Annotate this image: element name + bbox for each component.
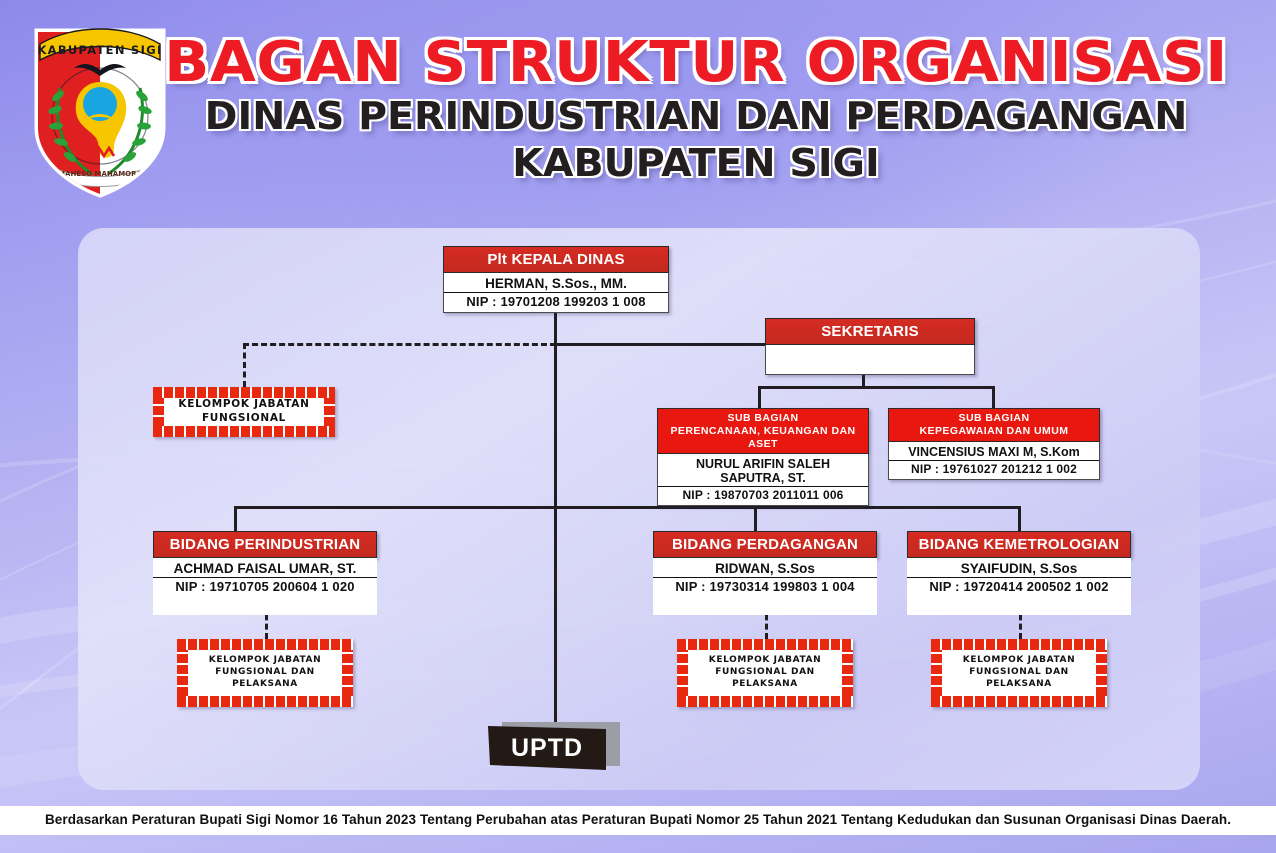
- bidang-3-name: SYAIFUDIN, S.Sos: [907, 558, 1131, 577]
- node-sub-bagian-perencanaan-body: NURUL ARIFIN SALEH SAPUTRA, ST. NIP : 19…: [657, 454, 869, 506]
- connector-bidang-1-drop: [234, 506, 237, 533]
- node-bidang-perindustrian-body: ACHMAD FAISAL UMAR, ST. NIP : 19710705 2…: [153, 558, 377, 615]
- connector-dashed-kjf-horizontal: [243, 343, 556, 346]
- kjf-label-line2: FUNGSIONAL: [202, 412, 286, 424]
- bidang-2-name: RIDWAN, S.Sos: [653, 558, 877, 577]
- uptd-box[interactable]: UPTD: [488, 726, 606, 770]
- title-block: BAGAN STRUKTUR ORGANISASI DINAS PERINDUS…: [180, 34, 1212, 184]
- bidang-2-nip: NIP : 19730314 199803 1 004: [653, 577, 877, 597]
- connector-subbagian-1-drop: [758, 386, 761, 408]
- node-kjf-pelaksana-perindustrian[interactable]: KELOMPOK JABATAN FUNGSIONAL DAN PELAKSAN…: [177, 639, 353, 707]
- node-sub-bagian-kepegawaian-body: VINCENSIUS MAXI M, S.Kom NIP : 19761027 …: [888, 442, 1100, 480]
- node-kjf-pelaksana-perdagangan-inner: KELOMPOK JABATAN FUNGSIONAL DAN PELAKSAN…: [688, 650, 842, 696]
- node-kepala-dinas-name: HERMAN, S.Sos., MM.: [444, 273, 668, 292]
- node-uptd[interactable]: UPTD: [488, 722, 620, 770]
- kjf-label-line1: KELOMPOK JABATAN: [178, 398, 309, 410]
- node-kepala-dinas-body: HERMAN, S.Sos., MM. NIP : 19701208 19920…: [443, 273, 669, 313]
- footer-bar: Berdasarkan Peraturan Bupati Sigi Nomor …: [0, 806, 1276, 835]
- node-bidang-perindustrian[interactable]: BIDANG PERINDUSTRIAN ACHMAD FAISAL UMAR,…: [153, 531, 377, 615]
- connector-kepala-spine: [554, 303, 557, 509]
- sub-bagian-1-title-line2: PERENCANAAN, KEUANGAN DAN ASET: [664, 425, 862, 451]
- sub-bagian-2-title-line2: KEPEGAWAIAN DAN UMUM: [895, 425, 1093, 438]
- sub-bagian-2-nip: NIP : 19761027 201212 1 002: [889, 460, 1099, 479]
- node-kjf-pelaksana-perindustrian-inner: KELOMPOK JABATAN FUNGSIONAL DAN PELAKSAN…: [188, 650, 342, 696]
- sub-bagian-2-title-line1: SUB BAGIAN: [895, 412, 1093, 425]
- bidang-1-child-line1: KELOMPOK JABATAN: [209, 655, 321, 665]
- node-kjf-pelaksana-kemetrologian-inner: KELOMPOK JABATAN FUNGSIONAL DAN PELAKSAN…: [942, 650, 1096, 696]
- node-sekretaris-body: [765, 345, 975, 375]
- page-title-main: BAGAN STRUKTUR ORGANISASI: [149, 34, 1243, 91]
- node-kelompok-jabatan-fungsional-inner: KELOMPOK JABATAN FUNGSIONAL: [164, 398, 324, 426]
- node-kjf-pelaksana-perdagangan[interactable]: KELOMPOK JABATAN FUNGSIONAL DAN PELAKSAN…: [677, 639, 853, 707]
- node-kepala-dinas[interactable]: Plt KEPALA DINAS HERMAN, S.Sos., MM. NIP…: [443, 246, 669, 313]
- sub-bagian-1-nip: NIP : 19870703 2011011 006: [658, 486, 868, 505]
- node-sub-bagian-kepegawaian[interactable]: SUB BAGIAN KEPEGAWAIAN DAN UMUM VINCENSI…: [888, 408, 1100, 480]
- connector-bidang-2-drop: [754, 506, 757, 533]
- node-sub-bagian-perencanaan[interactable]: SUB BAGIAN PERENCANAAN, KEUANGAN DAN ASE…: [657, 408, 869, 506]
- node-bidang-perdagangan-title: BIDANG PERDAGANGAN: [653, 531, 877, 558]
- node-sekretaris-title: SEKRETARIS: [765, 318, 975, 345]
- node-sub-bagian-kepegawaian-title: SUB BAGIAN KEPEGAWAIAN DAN UMUM: [888, 408, 1100, 442]
- node-kepala-dinas-title: Plt KEPALA DINAS: [443, 246, 669, 273]
- connector-subbagian-2-drop: [992, 386, 995, 408]
- connector-bidang-bus: [234, 506, 1020, 509]
- bidang-1-name: ACHMAD FAISAL UMAR, ST.: [153, 558, 377, 577]
- node-bidang-kemetrologian[interactable]: BIDANG KEMETROLOGIAN SYAIFUDIN, S.Sos NI…: [907, 531, 1131, 615]
- connector-bidang-3-drop: [1018, 506, 1021, 533]
- page-title-sub2: KABUPATEN SIGI: [159, 142, 1232, 185]
- node-bidang-perindustrian-title: BIDANG PERINDUSTRIAN: [153, 531, 377, 558]
- node-kelompok-jabatan-fungsional[interactable]: KELOMPOK JABATAN FUNGSIONAL: [153, 387, 335, 437]
- bidang-3-child-line2: FUNGSIONAL DAN PELAKSANA: [969, 667, 1069, 689]
- bidang-1-child-line2: FUNGSIONAL DAN PELAKSANA: [215, 667, 315, 689]
- logo-motto-text: MAHESO MAHAMORA: [58, 170, 142, 178]
- node-sub-bagian-perencanaan-title: SUB BAGIAN PERENCANAAN, KEUANGAN DAN ASE…: [657, 408, 869, 454]
- bidang-1-nip: NIP : 19710705 200604 1 020: [153, 577, 377, 597]
- node-kepala-dinas-nip: NIP : 19701208 199203 1 008: [444, 292, 668, 312]
- node-sekretaris[interactable]: SEKRETARIS: [765, 318, 975, 375]
- sub-bagian-1-title-line1: SUB BAGIAN: [664, 412, 862, 425]
- connector-dashed-kjf-vertical: [243, 343, 246, 387]
- page-title-sub1: DINAS PERINDUSTRIAN DAN PERDAGANGAN: [159, 95, 1232, 138]
- node-bidang-kemetrologian-body: SYAIFUDIN, S.Sos NIP : 19720414 200502 1…: [907, 558, 1131, 615]
- connector-subbagian-bus: [758, 386, 994, 389]
- bidang-3-child-line1: KELOMPOK JABATAN: [963, 655, 1075, 665]
- node-bidang-perdagangan[interactable]: BIDANG PERDAGANGAN RIDWAN, S.Sos NIP : 1…: [653, 531, 877, 615]
- logo-banner-text: KABUPATEN SIGI: [37, 43, 162, 57]
- node-kjf-pelaksana-kemetrologian[interactable]: KELOMPOK JABATAN FUNGSIONAL DAN PELAKSAN…: [931, 639, 1107, 707]
- node-bidang-kemetrologian-title: BIDANG KEMETROLOGIAN: [907, 531, 1131, 558]
- connector-spine-to-uptd: [554, 506, 557, 728]
- bidang-2-child-line1: KELOMPOK JABATAN: [709, 655, 821, 665]
- bidang-2-child-line2: FUNGSIONAL DAN PELAKSANA: [715, 667, 815, 689]
- node-bidang-perdagangan-body: RIDWAN, S.Sos NIP : 19730314 199803 1 00…: [653, 558, 877, 615]
- uptd-label: UPTD: [511, 734, 583, 763]
- sub-bagian-2-name: VINCENSIUS MAXI M, S.Kom: [889, 442, 1099, 460]
- footer-legal-text: Berdasarkan Peraturan Bupati Sigi Nomor …: [45, 812, 1231, 827]
- bidang-3-nip: NIP : 19720414 200502 1 002: [907, 577, 1131, 597]
- sub-bagian-1-name: NURUL ARIFIN SALEH SAPUTRA, ST.: [658, 454, 868, 486]
